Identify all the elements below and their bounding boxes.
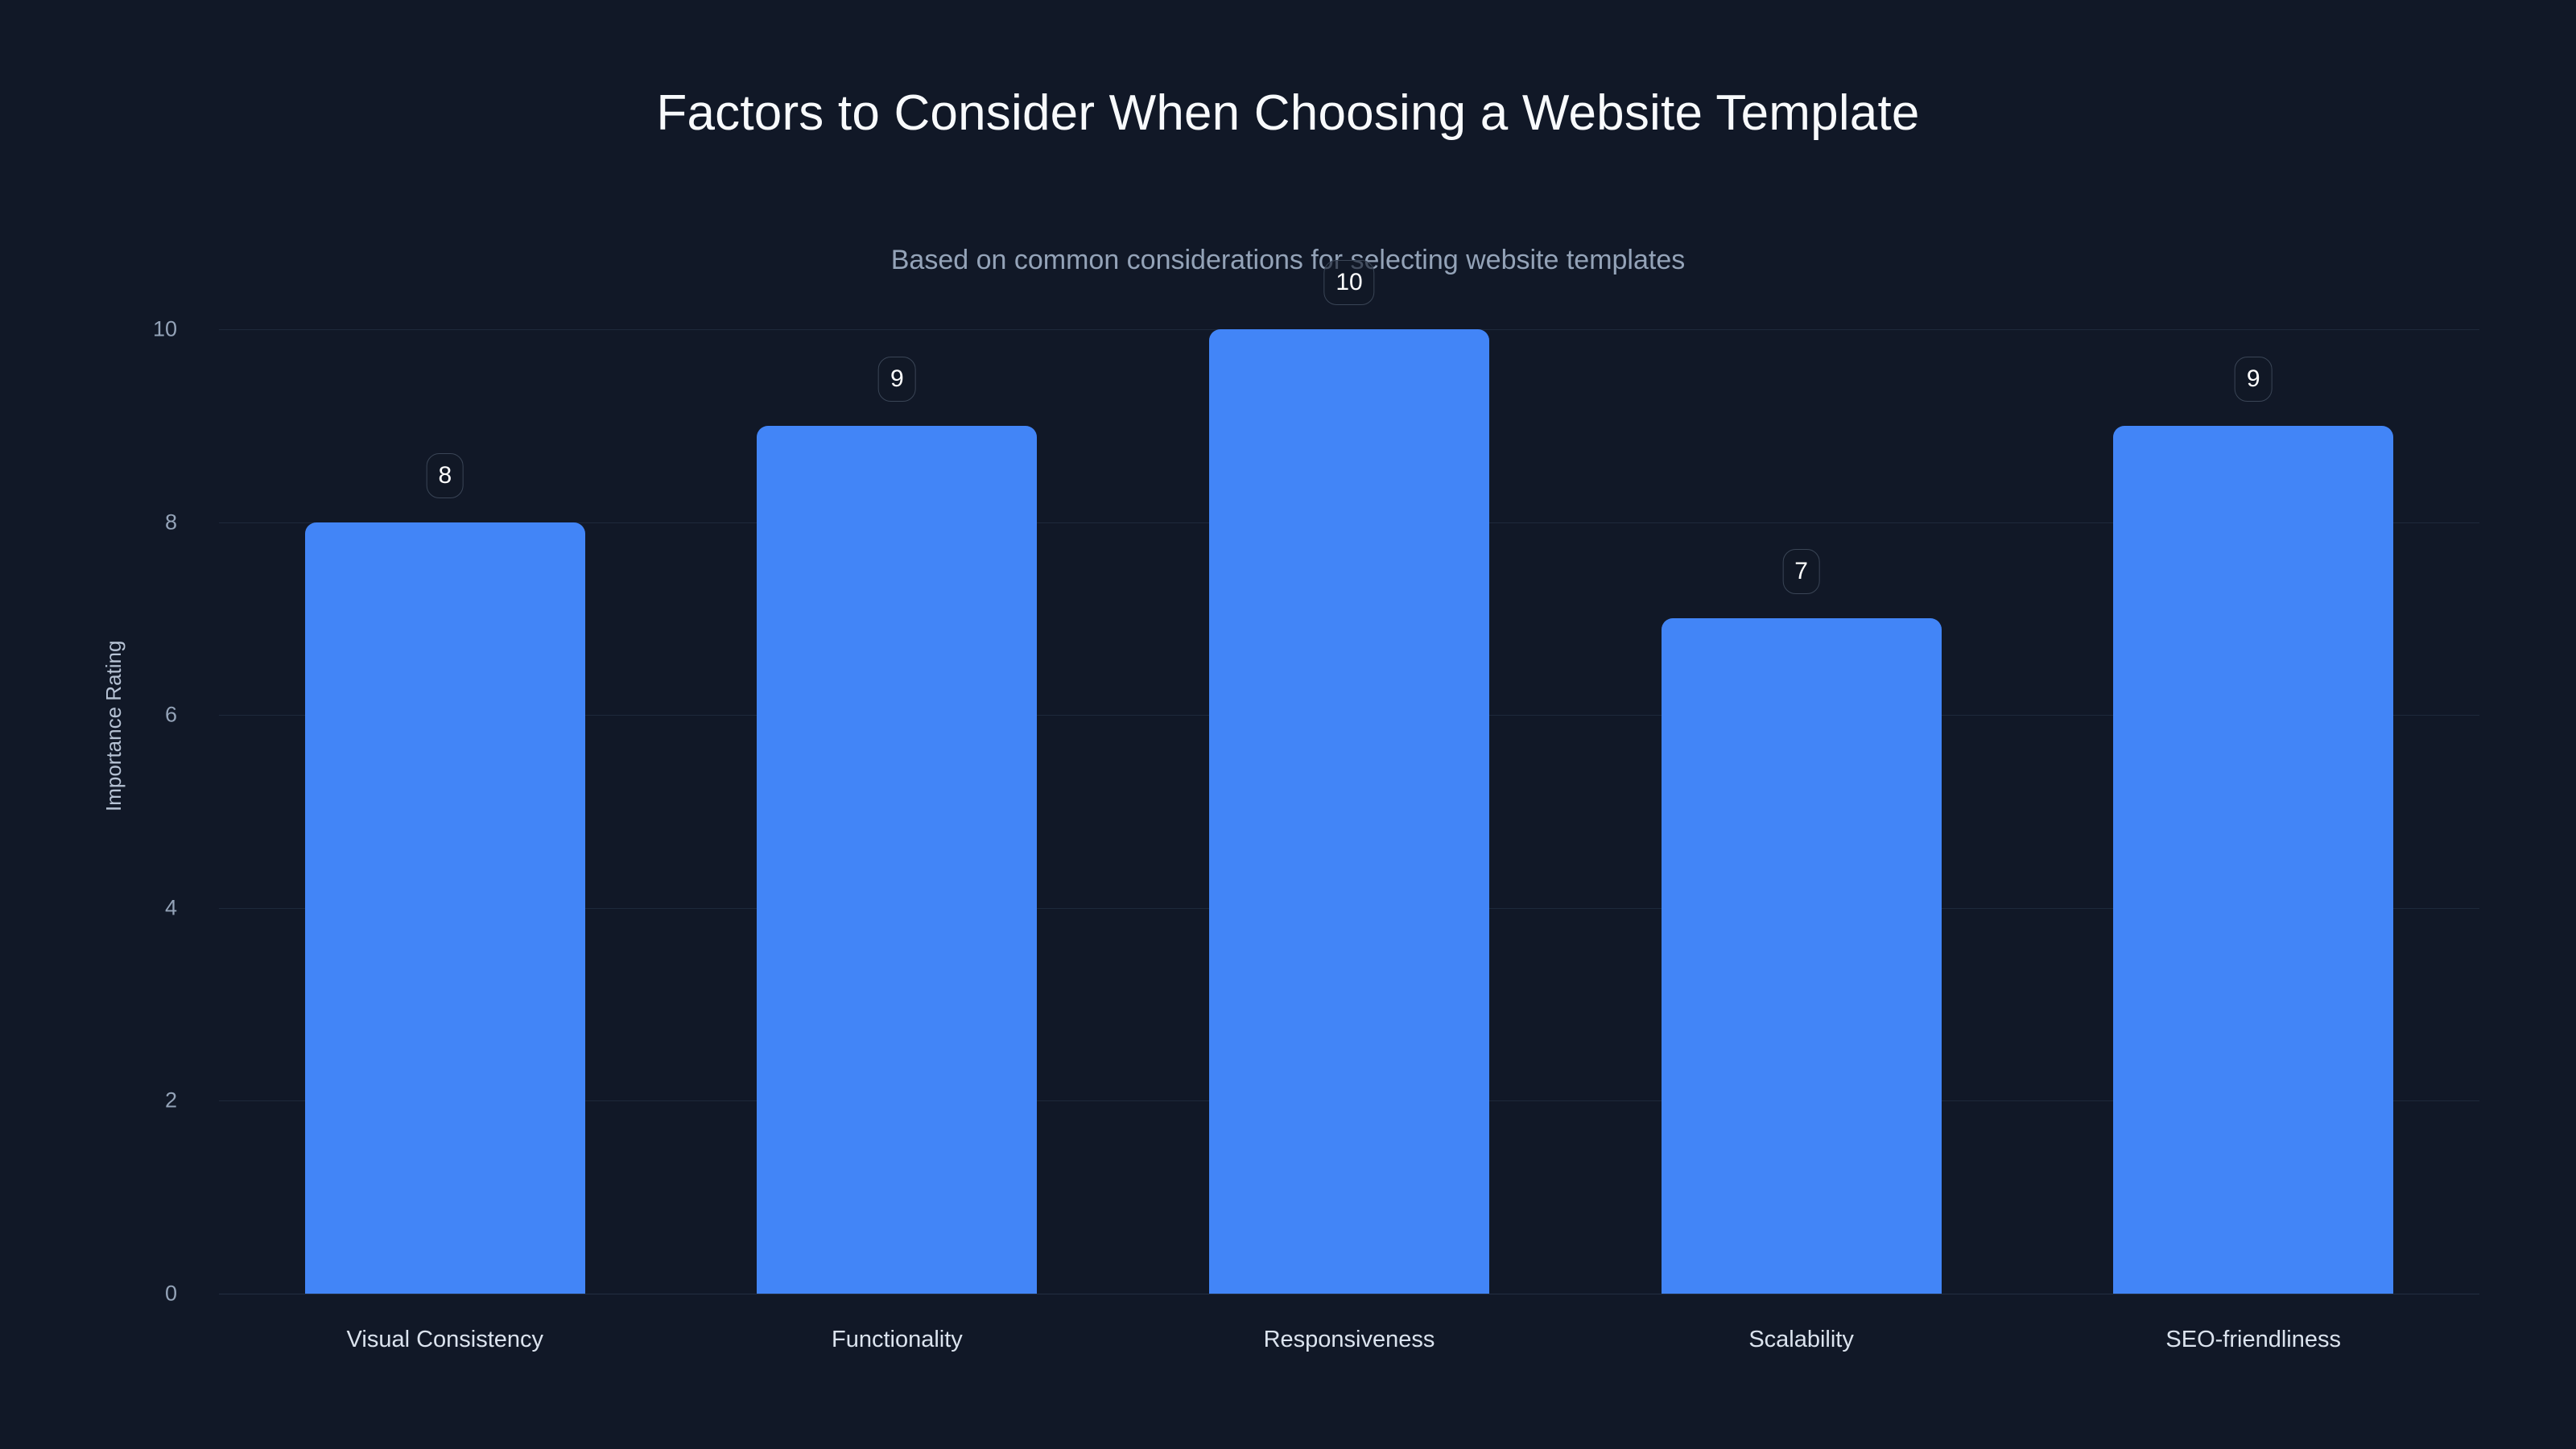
y-axis-tick-label: 0 <box>165 1283 177 1305</box>
y-axis-tick-label: 4 <box>165 897 177 919</box>
chart-container: Factors to Consider When Choosing a Webs… <box>0 0 2576 1449</box>
chart-title: Factors to Consider When Choosing a Webs… <box>0 89 2576 138</box>
y-axis-tick-label: 8 <box>165 511 177 533</box>
x-axis-tick-label: SEO-friendliness <box>2165 1328 2341 1352</box>
x-axis-tick-label: Responsiveness <box>1264 1328 1435 1352</box>
bar-value-badge: 7 <box>1782 549 1820 594</box>
y-axis-tick-label: 6 <box>165 704 177 726</box>
bar[interactable] <box>1662 618 1942 1294</box>
bar-value-badge: 10 <box>1323 260 1374 305</box>
bar-value-badge: 9 <box>878 357 916 402</box>
bar-value-badge: 8 <box>426 453 464 498</box>
bar[interactable] <box>1209 329 1489 1294</box>
bar[interactable] <box>2113 426 2393 1294</box>
chart-subtitle: Based on common considerations for selec… <box>0 246 2576 274</box>
x-axis-tick-label: Scalability <box>1748 1328 1854 1352</box>
x-axis-tick-label: Functionality <box>832 1328 963 1352</box>
bar-value-badge: 9 <box>2235 357 2273 402</box>
y-axis-tick-label: 10 <box>153 319 177 341</box>
gridline <box>219 1294 2479 1294</box>
x-axis-tick-label: Visual Consistency <box>347 1328 543 1352</box>
bar[interactable] <box>757 426 1037 1294</box>
plot-area <box>219 329 2479 1294</box>
y-axis-tick-label: 2 <box>165 1090 177 1112</box>
y-axis-tick-labels: 0246810 <box>0 329 201 1294</box>
bar[interactable] <box>305 522 585 1294</box>
